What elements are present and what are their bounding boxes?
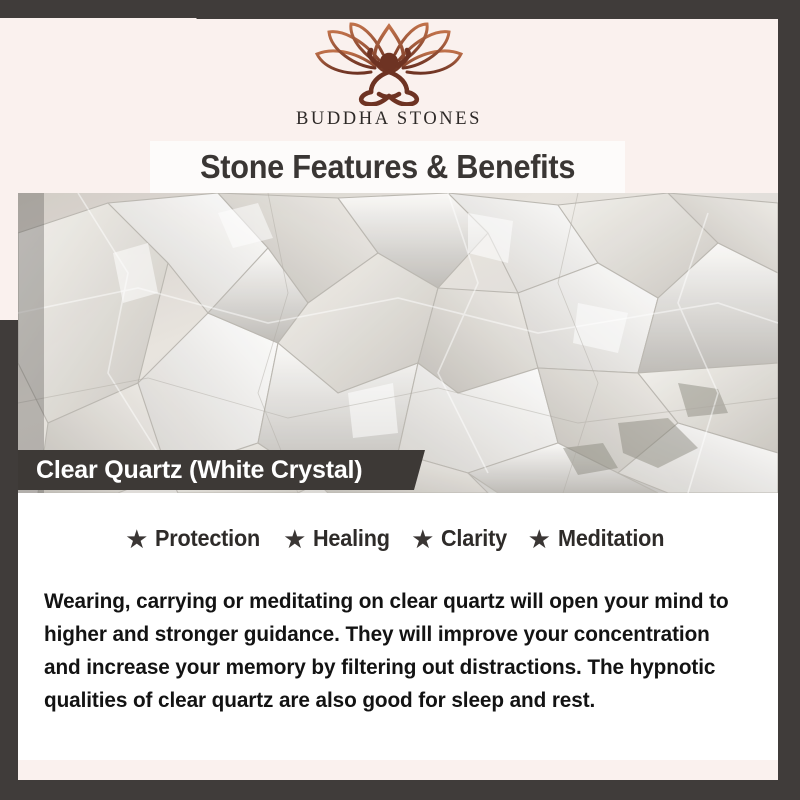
benefit-label: Clarity (441, 525, 507, 552)
description-paragraph: Wearing, carrying or meditating on clear… (44, 585, 735, 717)
benefit-label: Protection (155, 525, 260, 552)
benefit-label: Meditation (558, 525, 664, 552)
photo-caption-text: Clear Quartz (White Crystal) (18, 456, 362, 485)
crystal-photo-graphic (18, 193, 778, 493)
star-icon: ★ (528, 526, 551, 552)
page-title: Stone Features & Benefits (200, 148, 575, 186)
benefit-label: Healing (313, 525, 390, 552)
lotus-meditation-figure-icon (301, 20, 477, 106)
infographic-card: BUDDHA STONES Stone Features & Benefits (0, 0, 800, 800)
frame-right-bar (778, 0, 800, 800)
benefit-item-protection: ★ Protection (125, 525, 267, 552)
benefit-item-meditation: ★ Meditation (528, 525, 671, 552)
content-panel: ★ Protection ★ Healing ★ Clarity ★ Medit… (18, 493, 778, 760)
frame-left-bar (0, 320, 18, 800)
crystal-photo (18, 193, 778, 493)
frame-bottom-bar (0, 780, 800, 800)
frame-top-bar (0, 0, 800, 19)
star-icon: ★ (125, 526, 148, 552)
star-icon: ★ (283, 526, 306, 552)
brand-name: BUDDHA STONES (296, 109, 482, 130)
photo-caption-bar: Clear Quartz (White Crystal) (18, 450, 425, 490)
benefit-item-clarity: ★ Clarity (411, 525, 512, 552)
title-band: Stone Features & Benefits (150, 141, 625, 193)
brand-logo: BUDDHA STONES (0, 20, 778, 140)
star-icon: ★ (411, 526, 434, 552)
benefits-row: ★ Protection ★ Healing ★ Clarity ★ Medit… (18, 525, 778, 552)
benefit-item-healing: ★ Healing (283, 525, 395, 552)
